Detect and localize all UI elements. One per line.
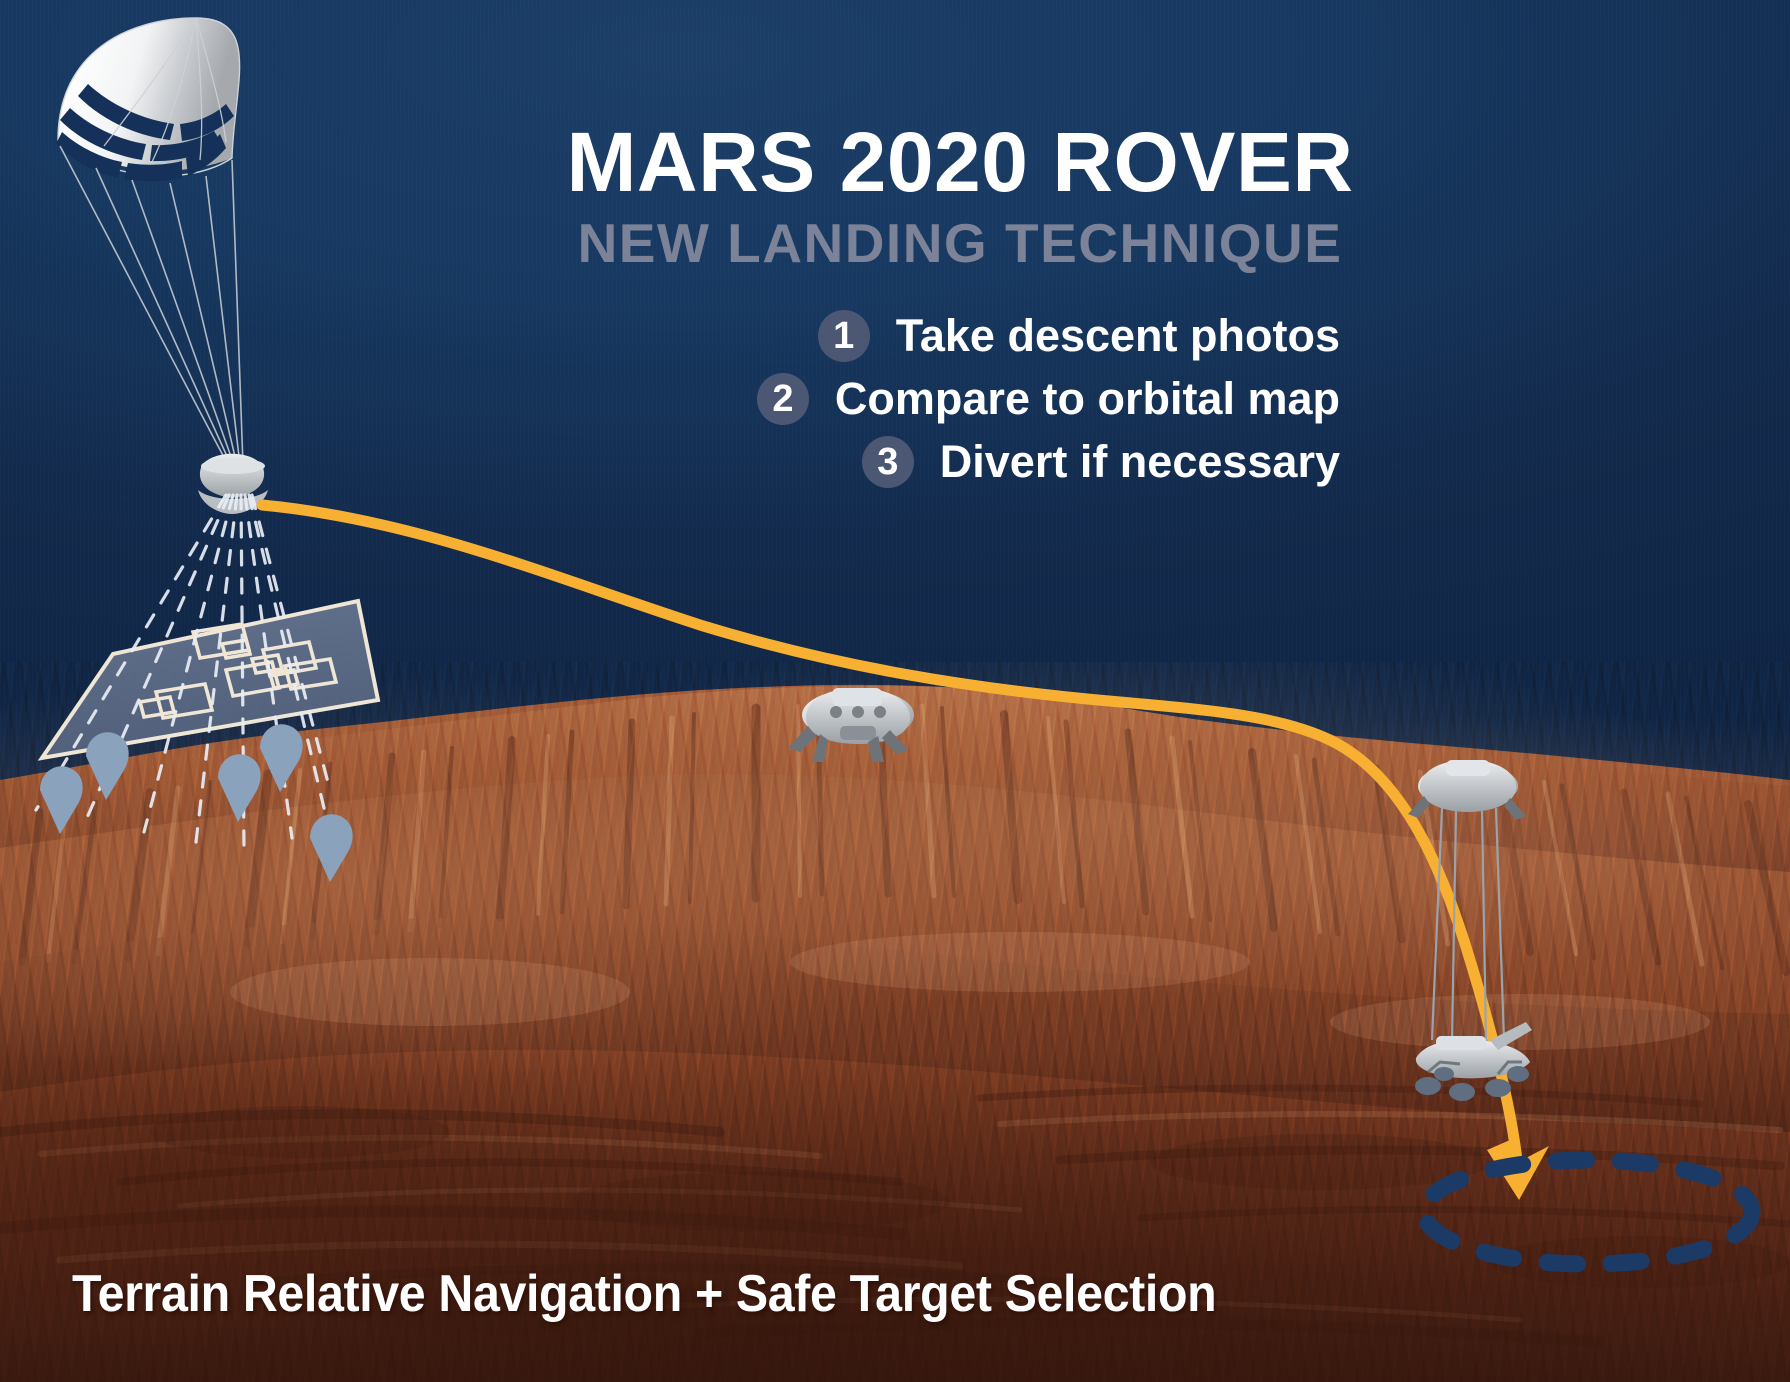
- orbital-map-panel: [40, 601, 380, 760]
- step-label: Take descent photos: [896, 310, 1340, 362]
- map-pin: [260, 724, 303, 792]
- list-item: 2 Compare to orbital map: [560, 373, 1340, 425]
- list-item: 1 Take descent photos: [560, 310, 1340, 362]
- map-pin: [86, 732, 129, 800]
- descent-trajectory: [262, 505, 1549, 1200]
- landing-ellipse: [1424, 1160, 1752, 1264]
- scene-graphics: [0, 0, 1790, 1382]
- step-number-badge: 2: [757, 373, 809, 425]
- steps-list: 1 Take descent photos 2 Compare to orbit…: [560, 310, 1340, 499]
- descent-stage-icon: [788, 688, 914, 762]
- footer-caption: Terrain Relative Navigation + Safe Targe…: [72, 1264, 1216, 1324]
- map-pin: [310, 814, 353, 882]
- infographic-canvas: MARS 2020 ROVER NEW LANDING TECHNIQUE 1 …: [0, 0, 1790, 1382]
- map-pin: [40, 766, 83, 834]
- step-label: Compare to orbital map: [835, 373, 1340, 425]
- list-item: 3 Divert if necessary: [560, 436, 1340, 488]
- step-label: Divert if necessary: [940, 436, 1340, 488]
- step-number-badge: 1: [818, 310, 870, 362]
- map-pin: [218, 754, 261, 822]
- sky-crane-icon: [1408, 760, 1526, 1042]
- parachute-icon: [48, 18, 243, 465]
- step-number-badge: 3: [862, 436, 914, 488]
